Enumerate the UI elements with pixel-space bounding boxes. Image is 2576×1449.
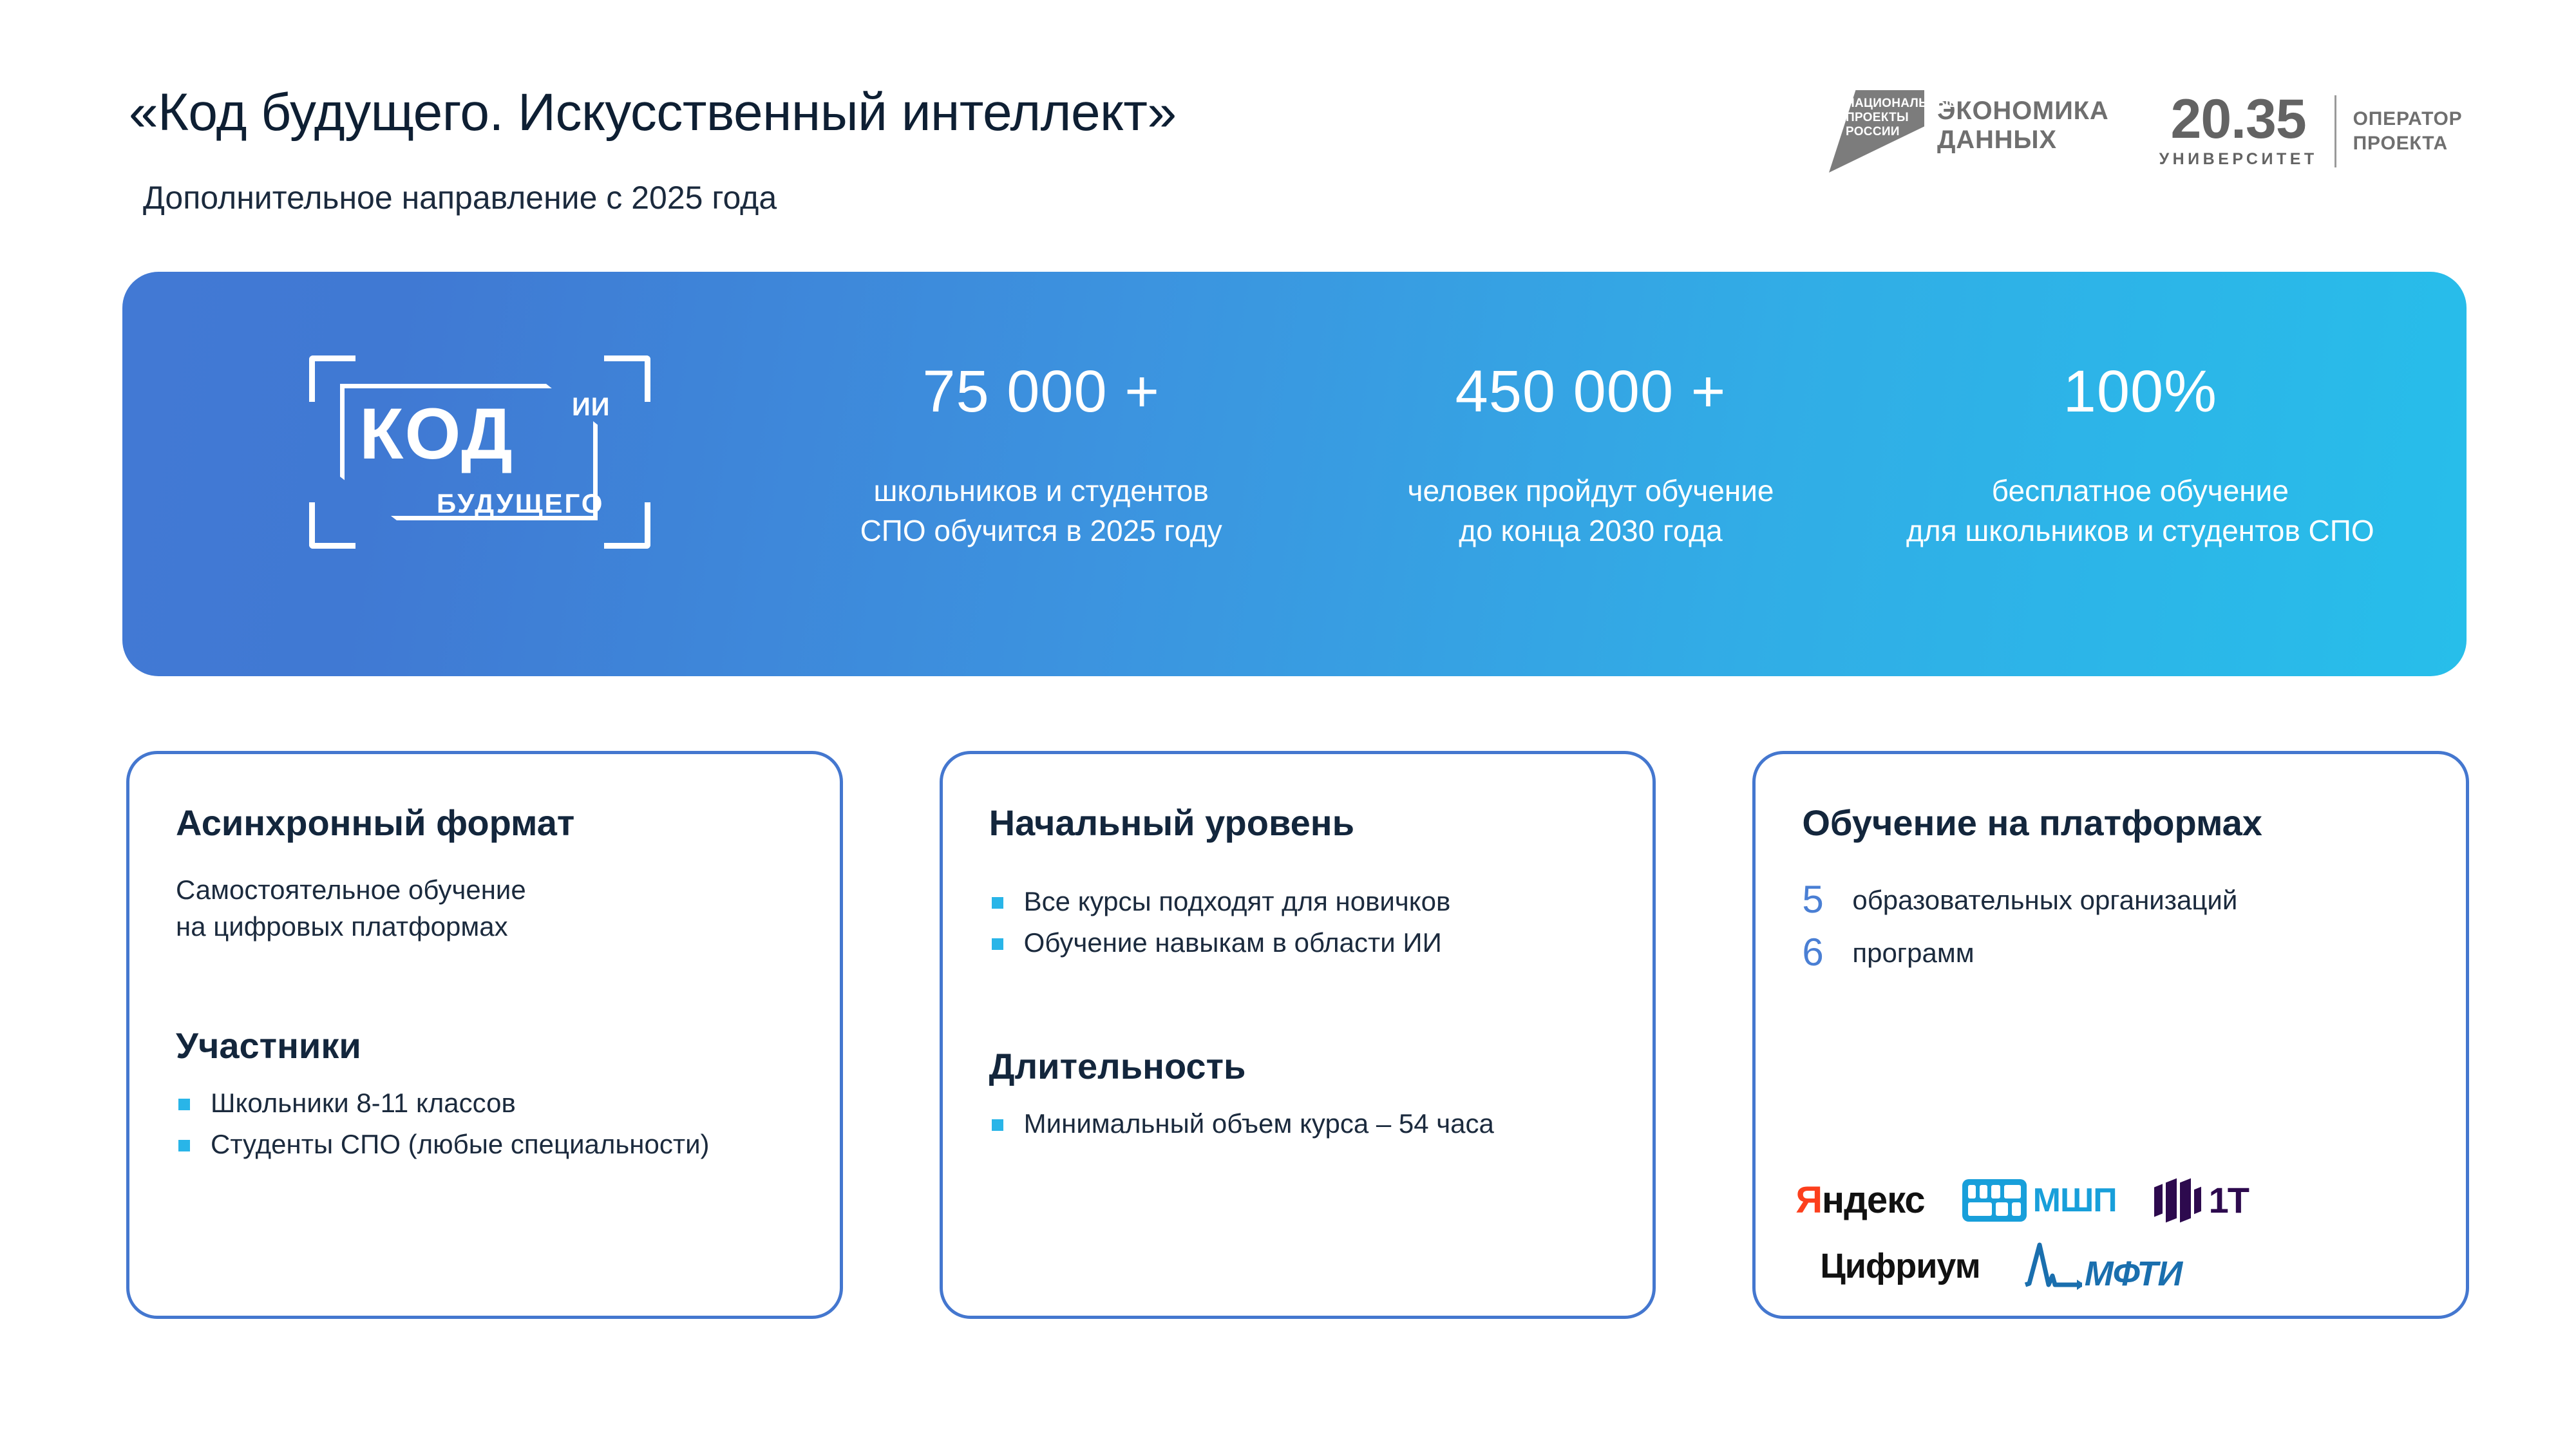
page-subtitle: Дополнительное направление с 2025 года [143,179,777,216]
platform-logo-row-1: Яндекс [1795,1179,2401,1222]
national-projects-logo: НАЦИОНАЛЬНЫЕ ПРОЕКТЫ РОССИИ ЭКОНОМИКА ДА… [1829,90,2109,173]
cards-row: Асинхронный формат Самостоятельное обуче… [126,751,2469,1319]
bracket-bottom-left-icon [309,502,355,549]
slide-root: «Код будущего. Искусственный интеллект» … [0,0,2576,1449]
ed-line-2: ДАННЫХ [1937,126,2109,155]
stat-value: 450 000 + [1316,362,1865,421]
card-bullet-list: Все курсы подходят для новичков Обучение… [989,883,1618,961]
np-line-1: НАЦИОНАЛЬНЫЕ [1846,97,1922,111]
vertical-divider [2334,95,2336,167]
card-title-secondary: Длительность [989,1046,1618,1086]
project-operator-text: ОПЕРАТОР ПРОЕКТА [2353,107,2463,155]
onet-bar [2154,1184,2163,1217]
stat-description: школьников и студентов СПО обучится в 20… [766,471,1316,551]
logo-superscript-ii: ИИ [572,393,611,422]
university-2035-number: 20.35 [2159,94,2318,145]
list-item: Школьники 8-11 классов [176,1084,805,1122]
onet-logo[interactable]: 1Т [2154,1179,2248,1222]
stat-desc-line-1: человек пройдут обучение [1316,471,1865,511]
count-row-programs: 6 программ [1802,932,2431,974]
card-title-secondary: Участники [176,1026,805,1066]
card-bullet-list: Школьники 8-11 классов Студенты СПО (люб… [176,1084,805,1163]
yandex-logo[interactable]: Яндекс [1795,1179,1924,1222]
stat-desc-line-2: СПО обучится в 2025 году [766,511,1316,551]
stat-desc-line-2: до конца 2030 года [1316,511,1865,551]
yandex-logo-rest: ндекс [1822,1179,1925,1221]
mipt-logo[interactable]: МФТИ [2023,1238,2183,1294]
stat-description: человек пройдут обучение до конца 2030 г… [1316,471,1865,551]
mshp-logo[interactable]: МШП [1962,1179,2117,1222]
stat-value: 75 000 + [766,362,1316,421]
mshp-block [1968,1202,1993,1216]
stat-desc-line-2: для школьников и студентов СПО [1866,511,2415,551]
card-title: Начальный уровень [989,803,1618,843]
platform-logo-row-2: Цифриум МФТИ [1795,1238,2401,1294]
count-row-organizations: 5 образовательных организаций [1802,879,2431,921]
ed-line-1: ЭКОНОМИКА [1937,97,2109,126]
onet-logo-text: 1Т [2209,1179,2248,1221]
page-title: «Код будущего. Искусственный интеллект» [129,82,1177,143]
onet-mark-icon [2154,1179,2201,1222]
mshp-row-bottom [1968,1202,2021,1216]
yandex-logo-letter: Я [1795,1179,1822,1221]
university-2035-logo: 20.35 УНИВЕРСИТЕТ ОПЕРАТОР ПРОЕКТА [2159,94,2463,169]
economy-of-data-text: ЭКОНОМИКА ДАННЫХ [1937,90,2109,155]
header-logo-group: НАЦИОНАЛЬНЫЕ ПРОЕКТЫ РОССИИ ЭКОНОМИКА ДА… [1829,90,2462,173]
stat-description: бесплатное обучение для школьников и сту… [1866,471,2415,551]
spacer [176,945,805,987]
mshp-block [1996,1202,2008,1216]
card-title: Асинхронный формат [176,803,805,843]
spacer [989,965,1618,1008]
card-bullet-list-secondary: Минимальный объем курса – 54 часа [989,1105,1618,1142]
mshp-block [2012,1202,2020,1216]
mshp-block [1991,1185,2000,1198]
mshp-block [2004,1185,2021,1198]
platform-logos: Яндекс [1795,1179,2401,1294]
card-beginner-level[interactable]: Начальный уровень Все курсы подходят для… [940,751,1656,1319]
university-2035-word: УНИВЕРСИТЕТ [2159,150,2318,169]
card-async-format[interactable]: Асинхронный формат Самостоятельное обуче… [126,751,843,1319]
kod-budushchego-logo: КОД ИИ БУДУЩЕГО [309,355,650,549]
operator-line-2: ПРОЕКТА [2353,131,2463,156]
stat-desc-line-1: школьников и студентов [766,471,1316,511]
stat-value: 100% [1866,362,2415,421]
stat-item-1: 75 000 + школьников и студентов СПО обуч… [766,362,1316,551]
stat-item-2: 450 000 + человек пройдут обучение до ко… [1316,362,1865,551]
stat-desc-line-1: бесплатное обучение [1866,471,2415,511]
mshp-mark-icon [1962,1179,2027,1222]
cifrium-logo[interactable]: Цифриум [1820,1246,1980,1286]
stats-row: 75 000 + школьников и студентов СПО обуч… [766,362,2415,551]
onet-bar [2166,1178,2177,1222]
mshp-row-top [1968,1185,2021,1198]
mipt-logo-text: МФТИ [2085,1254,2183,1294]
university-2035-name: 20.35 УНИВЕРСИТЕТ [2159,94,2318,169]
mshp-logo-text: МШП [2033,1181,2117,1220]
national-projects-mark-icon: НАЦИОНАЛЬНЫЕ ПРОЕКТЫ РОССИИ [1829,90,1924,173]
count-number: 6 [1802,932,1852,974]
onet-bar [2180,1178,2191,1222]
operator-line-1: ОПЕРАТОР [2353,107,2463,131]
logo-word-kod: КОД [359,398,514,470]
stat-item-3: 100% бесплатное обучение для школьников … [1866,362,2415,551]
card-subtitle: Самостоятельное обучение на цифровых пла… [176,871,805,945]
count-number: 5 [1802,879,1852,921]
card-subtitle-line-1: Самостоятельное обучение [176,871,805,908]
card-title: Обучение на платформах [1802,803,2431,843]
card-subtitle-line-2: на цифровых платформах [176,908,805,945]
onet-bar [2194,1186,2201,1213]
mshp-block [1980,1185,1987,1198]
card-learning-platforms[interactable]: Обучение на платформах 5 образовательных… [1752,751,2469,1319]
hero-banner: КОД ИИ БУДУЩЕГО 75 000 + школьников и ст… [122,272,2467,676]
count-label: программ [1852,932,1974,971]
list-item: Студенты СПО (любые специальности) [176,1126,805,1163]
list-item: Минимальный объем курса – 54 часа [989,1105,1618,1142]
np-line-2: ПРОЕКТЫ [1846,111,1922,125]
list-item: Обучение навыкам в области ИИ [989,924,1618,961]
bracket-top-right-icon [604,355,650,402]
mipt-peak-icon [2023,1238,2082,1294]
national-projects-mark-text: НАЦИОНАЛЬНЫЕ ПРОЕКТЫ РОССИИ [1846,97,1922,140]
list-item: Все курсы подходят для новичков [989,883,1618,920]
mshp-block [1968,1185,1976,1198]
count-label: образовательных организаций [1852,879,2237,918]
logo-word-budushchego: БУДУЩЕГО [437,488,604,519]
np-line-3: РОССИИ [1846,125,1922,139]
bracket-bottom-right-icon [604,502,650,549]
